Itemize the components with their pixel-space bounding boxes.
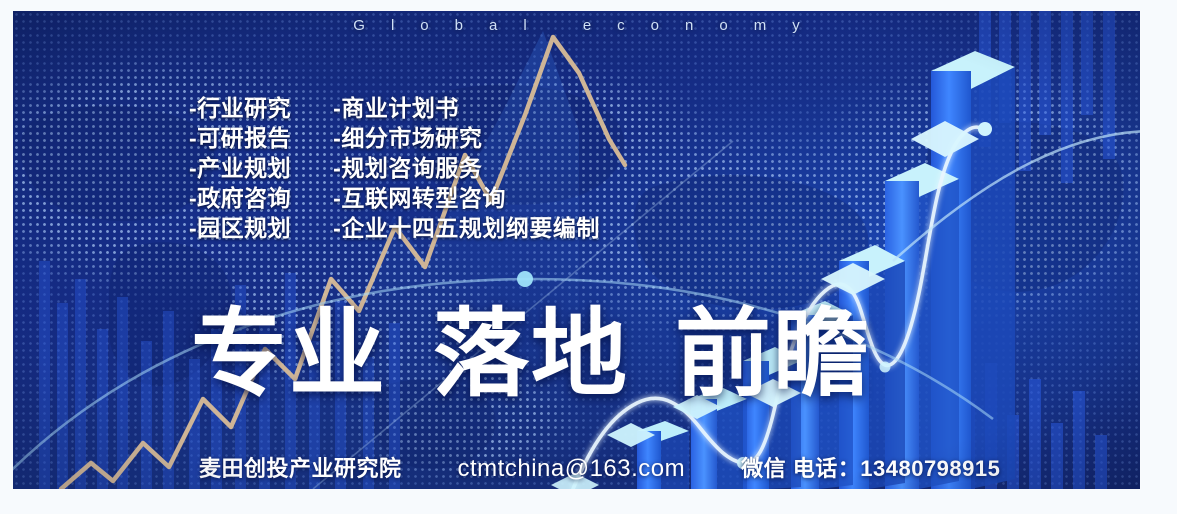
curve-node-dot [880, 362, 891, 373]
right-sweep-arc [893, 131, 1140, 261]
service-lists: -行业研究 -可研报告 -产业规划 -政府咨询 -园区规划 -商业计划书 -细分… [189, 93, 600, 243]
service-item: -行业研究 [189, 93, 291, 123]
banner-frame: Global economy -行业研究 -可研报告 -产业规划 -政府咨询 -… [0, 0, 1177, 514]
headline-word-1: 专业 [191, 307, 387, 403]
service-item: -互联网转型咨询 [333, 183, 600, 213]
headline-word-3: 前瞻 [675, 307, 871, 403]
service-item: -企业十四五规划纲要编制 [333, 213, 600, 243]
curve-node-dot [978, 122, 992, 136]
world-map-dot-overlay [13, 11, 1140, 489]
page-title-global-economy: Global economy [13, 17, 1140, 34]
service-item: -产业规划 [189, 153, 291, 183]
footer-contact-row: 麦田创投产业研究院 ctmtchina@163.com 微信 电话：134807… [199, 451, 1000, 483]
service-column-left: -行业研究 -可研报告 -产业规划 -政府咨询 -园区规划 [189, 93, 291, 243]
continent-silhouettes [13, 11, 1140, 489]
contact-label: 微信 电话： [741, 456, 860, 481]
economy-chart-graphic [13, 11, 1140, 489]
marketing-banner-poster: Global economy -行业研究 -可研报告 -产业规划 -政府咨询 -… [13, 11, 1140, 489]
contact-email[interactable]: ctmtchina@163.com [458, 455, 686, 483]
organization-name: 麦田创投产业研究院 [199, 451, 402, 483]
service-item: -可研报告 [189, 123, 291, 153]
contact-phone-group: 微信 电话：13480798915 [741, 451, 1000, 483]
vignette-overlay [13, 11, 1140, 489]
background-vertical-bars [13, 11, 1140, 489]
service-item: -园区规划 [189, 213, 291, 243]
service-item: -规划咨询服务 [333, 153, 600, 183]
service-item: -商业计划书 [333, 93, 600, 123]
phone-number[interactable]: 13480798915 [860, 456, 1000, 481]
service-item: -政府咨询 [189, 183, 291, 213]
service-item: -细分市场研究 [333, 123, 600, 153]
headline-word-2: 落地 [433, 307, 629, 403]
service-column-right: -商业计划书 -细分市场研究 -规划咨询服务 -互联网转型咨询 -企业十四五规划… [333, 93, 600, 243]
dot-matrix-texture [13, 11, 1140, 489]
arc-apex-dot [517, 271, 533, 287]
bar-group [637, 51, 1015, 489]
headline-slogan: 专业 落地 前瞻 [191, 307, 871, 403]
